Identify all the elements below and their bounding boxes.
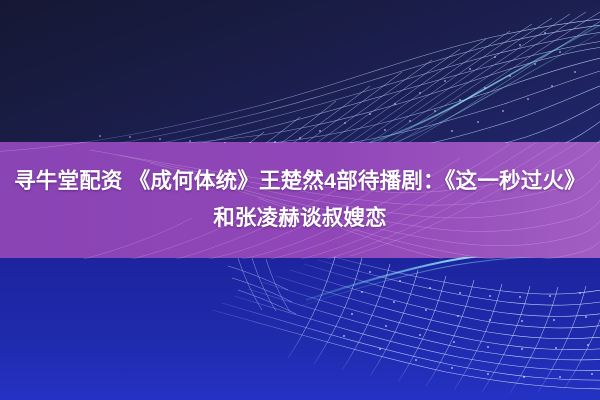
background-top-gradient — [0, 0, 600, 142]
headline-band: 寻牛堂配资 《成何体统》王楚然4部待播剧：《这一秒过火》和张凌赫谈叔嫂恋 — [0, 142, 600, 258]
headline-text: 寻牛堂配资 《成何体统》王楚然4部待播剧：《这一秒过火》和张凌赫谈叔嫂恋 — [12, 163, 588, 237]
banner-image: 寻牛堂配资 《成何体统》王楚然4部待播剧：《这一秒过火》和张凌赫谈叔嫂恋 — [0, 0, 600, 400]
background-bottom-gradient — [0, 258, 600, 400]
